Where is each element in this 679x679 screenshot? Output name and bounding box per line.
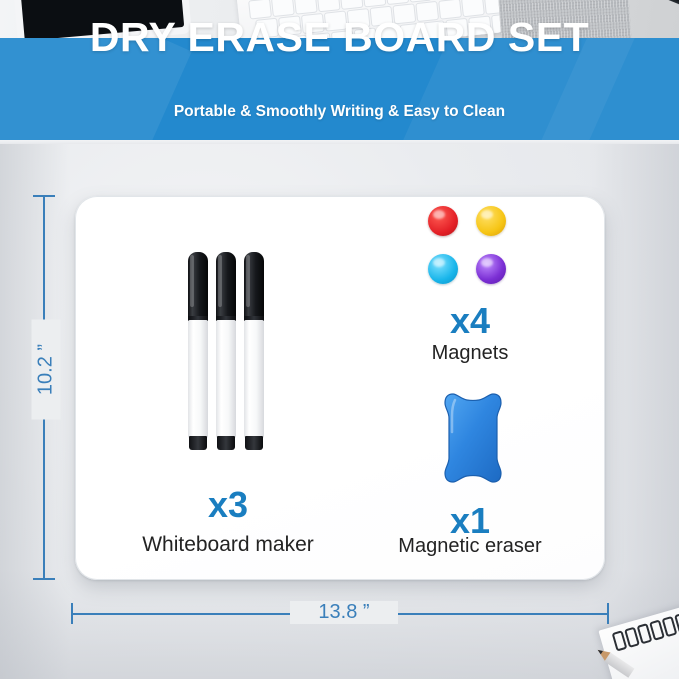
width-dimension-tick-right [607,603,609,624]
marker-body [244,320,264,438]
magnet-red [428,206,458,236]
page-title: DRY ERASE BOARD SET [0,14,679,61]
magnet-count: x4 [400,303,540,339]
marker [188,252,208,452]
marker-cap [244,252,264,318]
marker-cap [188,252,208,318]
height-dimension-tick-top [33,195,55,197]
marker-end-cap [217,436,235,450]
magnet-purple [476,254,506,284]
marker [216,252,236,452]
marker-count: x3 [150,487,306,523]
magnet-yellow [476,206,506,236]
page-subtitle: Portable & Smoothly Writing & Easy to Cl… [0,103,679,121]
magnet-caption: Magnets [400,343,540,363]
eraser-caption: Magnetic eraser [382,536,558,556]
marker-body [216,320,236,438]
height-dimension-label: 10.2 ” [32,320,61,420]
product-infographic: DRY ERASE BOARD SET Portable & Smoothly … [0,0,679,679]
marker-end-cap [189,436,207,450]
width-dimension-tick-left [71,603,73,624]
magnet-group [428,206,510,286]
marker-body [188,320,208,438]
marker-caption: Whiteboard maker [118,534,338,555]
magnet-cyan [428,254,458,284]
marker-cap [216,252,236,318]
marker-group [188,252,268,452]
magnetic-eraser [443,392,503,484]
marker-end-cap [245,436,263,450]
scene-shadow-bottom [0,569,679,679]
width-dimension-label: 13.8 ” [290,601,398,624]
marker [244,252,264,452]
height-dimension-tick-bottom [33,578,55,580]
eraser-count: x1 [400,503,540,539]
